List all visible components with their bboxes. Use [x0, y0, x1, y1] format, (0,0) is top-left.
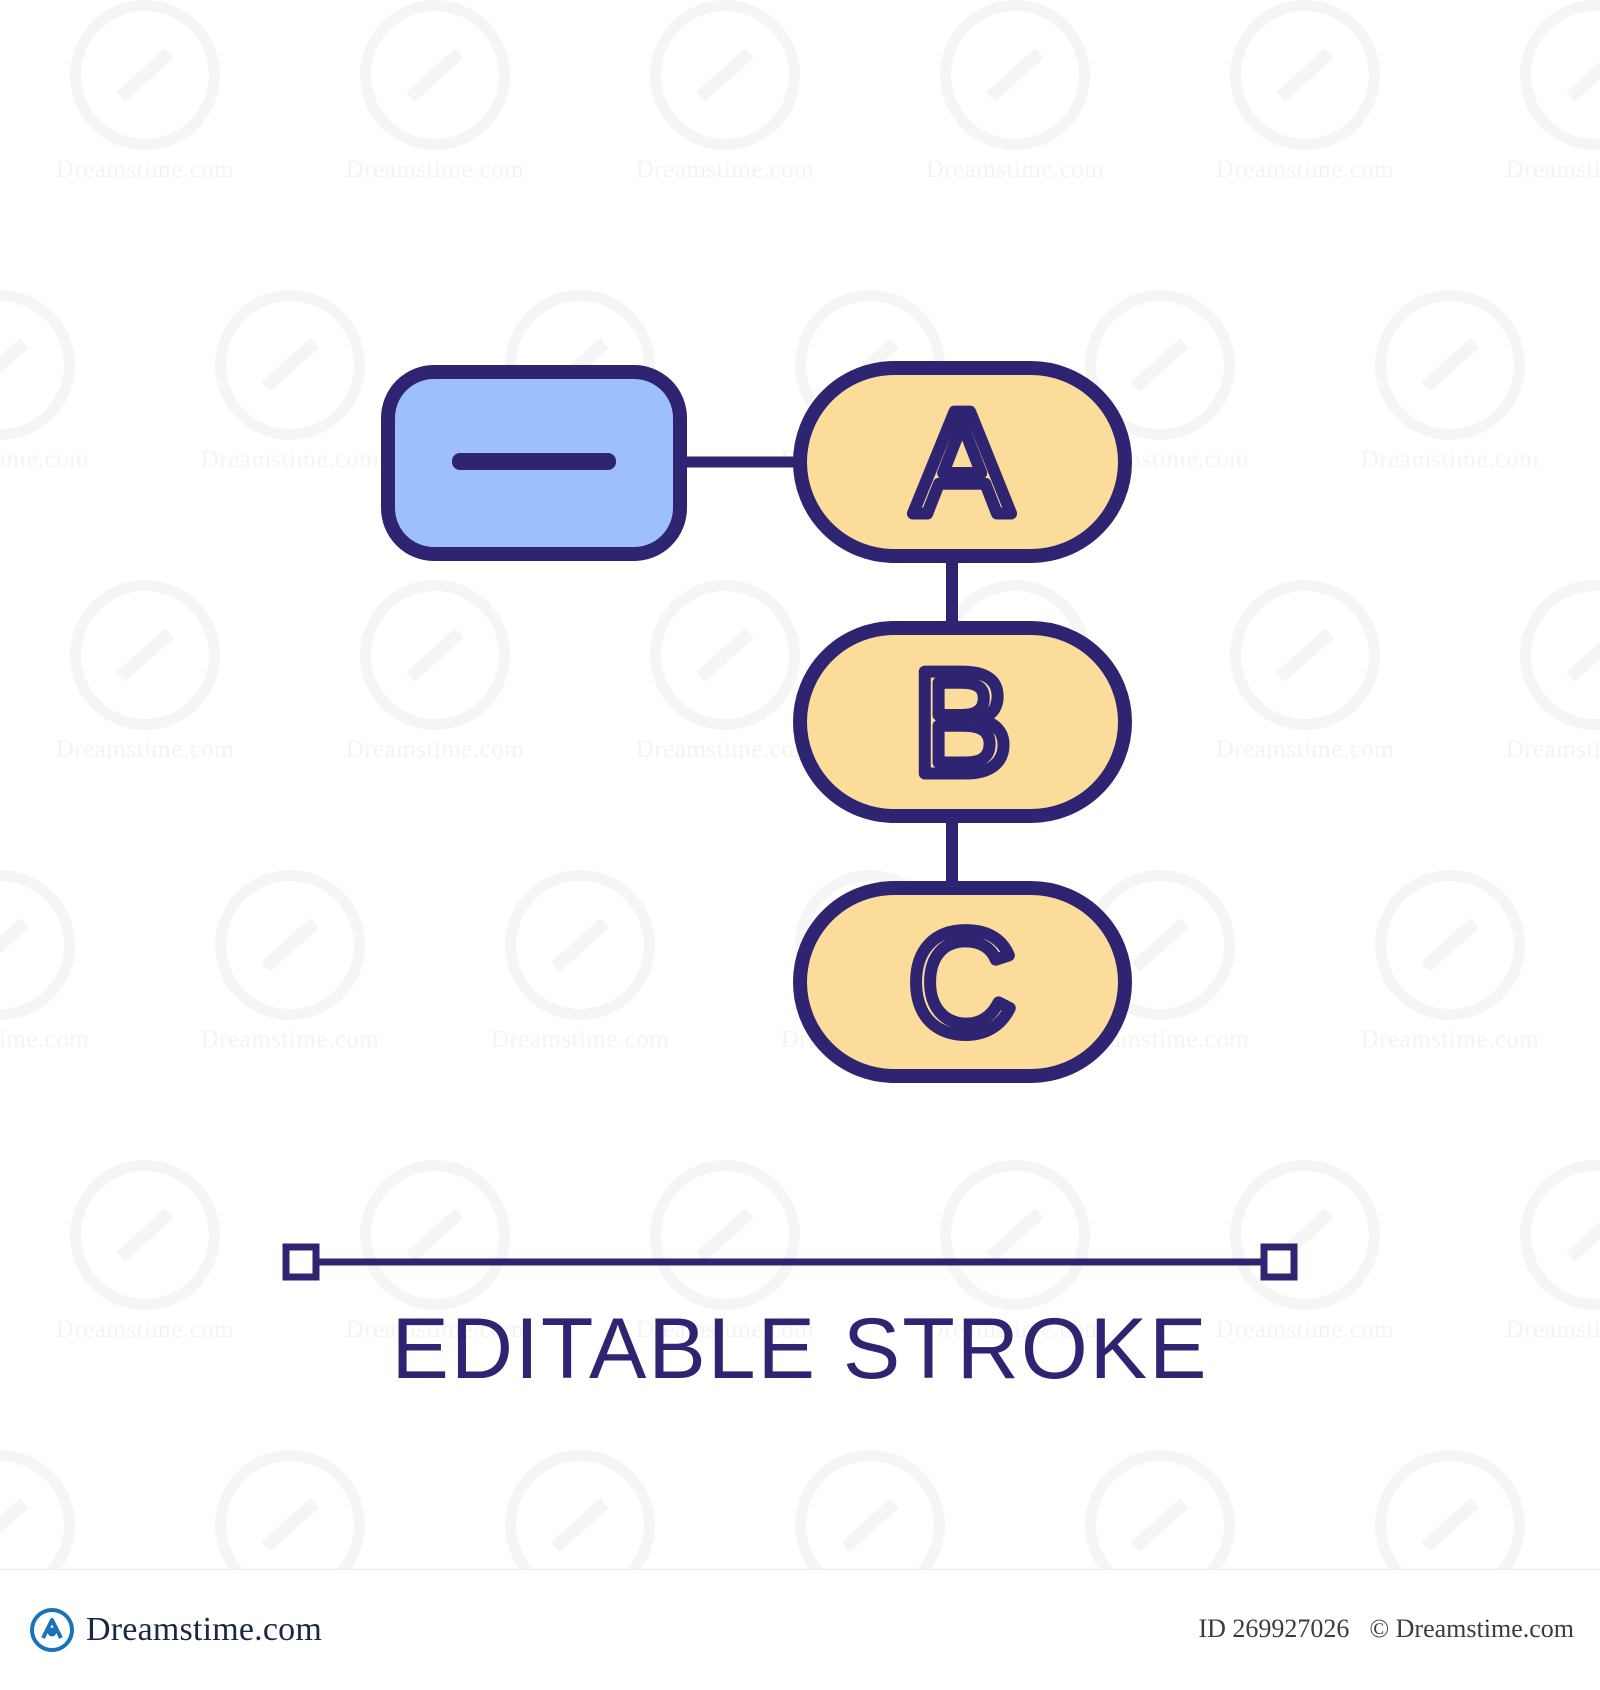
minus-icon [452, 453, 616, 470]
collapse-toggle-node[interactable] [388, 372, 680, 554]
brand-label: Dreamstime.com [86, 1611, 322, 1649]
dreamstime-logo-icon [30, 1608, 74, 1652]
node-a[interactable]: A [800, 368, 1125, 556]
footer-bar: Dreamstime.com ID 269927026 © Dreamstime… [0, 1569, 1600, 1690]
node-c-label: C [909, 901, 1016, 1066]
brand[interactable]: Dreamstime.com [30, 1608, 322, 1652]
footer-meta: ID 269927026 © Dreamstime.com [1198, 1614, 1574, 1644]
node-a-label: A [913, 381, 1012, 546]
copyright-label: © Dreamstime.com [1369, 1614, 1574, 1644]
illustration-canvas: A B C EDITABLE STROKE [0, 0, 1600, 1450]
stroke-sample [286, 1247, 1294, 1277]
stroke-handle-left[interactable] [286, 1247, 316, 1277]
editable-stroke-caption: EDITABLE STROKE [392, 1301, 1209, 1397]
node-b[interactable]: B [800, 628, 1125, 816]
node-c[interactable]: C [800, 888, 1125, 1076]
image-id: ID 269927026 [1198, 1614, 1349, 1644]
node-b-label: B [913, 641, 1012, 806]
stroke-handle-right[interactable] [1264, 1247, 1294, 1277]
